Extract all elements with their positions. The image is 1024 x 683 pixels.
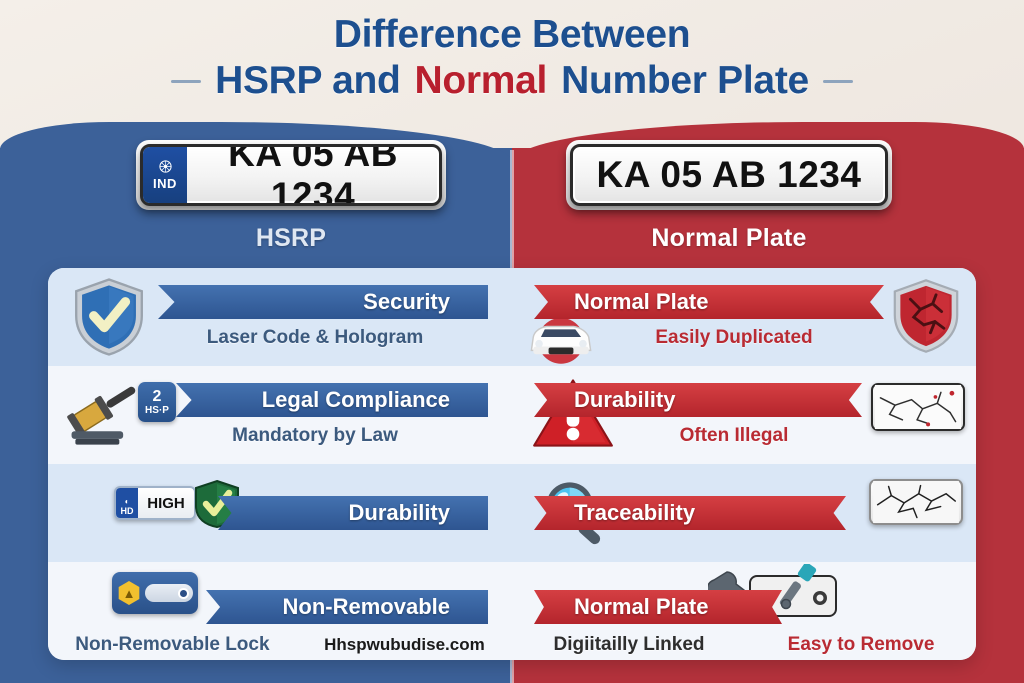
normal-plate-block: KA 05 AB 1234 Normal Plate <box>566 140 892 253</box>
title-hsrp-and: HSRP and <box>215 58 400 104</box>
normal-plate-caption: Normal Plate <box>566 224 892 253</box>
ind-badge: IND <box>143 147 187 203</box>
infographic-poster: Difference Between HSRP and Normal Numbe… <box>0 0 1024 683</box>
row1-right-subline: Easily Duplicated <box>512 327 976 349</box>
lock-dot <box>178 588 189 599</box>
lock-hex-icon: ▲ <box>117 581 141 605</box>
row3-left-cell: ◐ HD HIGH Durability <box>48 464 512 562</box>
row2-left-subline: Mandatory by Law <box>48 425 512 447</box>
row1-left-banner-label: Security <box>363 289 450 315</box>
row2-right-cell: Durability Often Illegal <box>512 366 976 464</box>
title-line-2: HSRP and Normal Number Plate <box>0 58 1024 104</box>
normal-plate-frame: KA 05 AB 1234 <box>566 140 892 210</box>
hsrp-number-plate: IND KA 05 AB 1234 <box>140 144 442 206</box>
row1-right-banner-label: Normal Plate <box>574 289 709 315</box>
title-dash-right <box>823 80 853 83</box>
hd-mini-plate-icon: ◐ HD HIGH <box>114 486 196 520</box>
row2-right-banner-label: Durability <box>574 387 675 413</box>
watermark-text: Hhspwubudise.com <box>324 635 485 655</box>
hsrp-registration-number: KA 05 AB 1234 <box>187 144 439 206</box>
title-line-1: Difference Between <box>0 12 1024 58</box>
badge-number-bottom: HS·P <box>145 406 169 416</box>
comparison-row: ◐ HD HIGH Durability <box>48 464 976 562</box>
row3-right-banner: Traceability <box>534 496 846 530</box>
row1-left-subline: Laser Code & Hologram <box>48 327 512 349</box>
row4-right-banner-label: Normal Plate <box>574 594 709 620</box>
lock-bar <box>145 584 193 602</box>
row1-left-cell: Security Laser Code & Hologram <box>48 268 512 366</box>
row3-left-banner-label: Durability <box>349 500 450 526</box>
comparison-row: Security Laser Code & Hologram <box>48 268 976 366</box>
row3-right-banner-label: Traceability <box>574 500 695 526</box>
page-title: Difference Between HSRP and Normal Numbe… <box>0 12 1024 104</box>
badge-number-top: 2 <box>153 389 162 405</box>
row1-right-banner: Normal Plate <box>534 285 884 319</box>
hd-badge: ◐ HD <box>116 488 138 518</box>
row2-left-banner-label: Legal Compliance <box>262 387 450 413</box>
row1-right-subtitle: Easily Duplicated <box>655 327 812 349</box>
row2-left-banner: Legal Compliance <box>176 383 488 417</box>
row4-right-subtitle-dark: Digiitailly Linked <box>554 634 705 656</box>
snap-lock-icon: ▲ <box>112 572 198 614</box>
hsrp-number-badge: 2 HS·P <box>138 382 176 422</box>
row2-right-subtitle: Often Illegal <box>680 425 789 447</box>
comparison-card: Security Laser Code & Hologram <box>48 268 976 660</box>
title-dash-left <box>171 80 201 83</box>
ind-badge-label: IND <box>153 176 177 191</box>
hsrp-plate-block: IND KA 05 AB 1234 HSRP <box>136 140 446 253</box>
row3-right-cell: Traceability <box>512 464 976 562</box>
comparison-row: ▲ Non-Removable <box>48 562 976 660</box>
row4-left-banner: Non-Removable <box>206 590 488 624</box>
title-number-plate: Number Plate <box>561 58 809 104</box>
normal-registration-number: KA 05 AB 1234 <box>573 154 885 196</box>
hsrp-plate-caption: HSRP <box>136 224 446 253</box>
hd-chakra-icon: ◐ <box>125 498 130 506</box>
footer-right: Digiitailly Linked Easy to Remove <box>512 634 976 656</box>
row4-left-subtitle: Non-Removable Lock <box>75 634 269 656</box>
footer-left: Non-Removable Lock Hhspwubudise.com <box>48 634 512 656</box>
row2-right-subline: Often Illegal <box>512 425 976 447</box>
row1-left-banner: Security <box>158 285 488 319</box>
row4-right-subtitle-red: Easy to Remove <box>788 634 935 656</box>
mini-plate-text: HIGH <box>138 495 194 512</box>
row2-left-subtitle: Mandatory by Law <box>232 425 398 447</box>
row4-left-banner-label: Non-Removable <box>283 594 450 620</box>
normal-number-plate: KA 05 AB 1234 <box>570 144 888 206</box>
hd-badge-label: HD <box>121 506 134 516</box>
chakra-hologram-icon <box>158 159 173 174</box>
cracked-plate-icon <box>868 476 964 528</box>
row3-left-banner: Durability <box>218 496 488 530</box>
title-accent-normal: Normal <box>415 58 548 104</box>
row1-right-cell: Normal Plate Easily Duplicated <box>512 268 976 366</box>
row2-left-cell: 2 HS·P Legal Compliance Mandatory by Law <box>48 366 512 464</box>
hsrp-plate-frame: IND KA 05 AB 1234 <box>136 140 446 210</box>
row2-right-banner: Durability <box>534 383 862 417</box>
footer-labels: Non-Removable Lock Hhspwubudise.com Digi… <box>48 634 976 656</box>
row4-right-banner: Normal Plate <box>534 590 782 624</box>
row1-left-subtitle: Laser Code & Hologram <box>207 327 423 349</box>
comparison-row: 2 HS·P Legal Compliance Mandatory by Law <box>48 366 976 464</box>
